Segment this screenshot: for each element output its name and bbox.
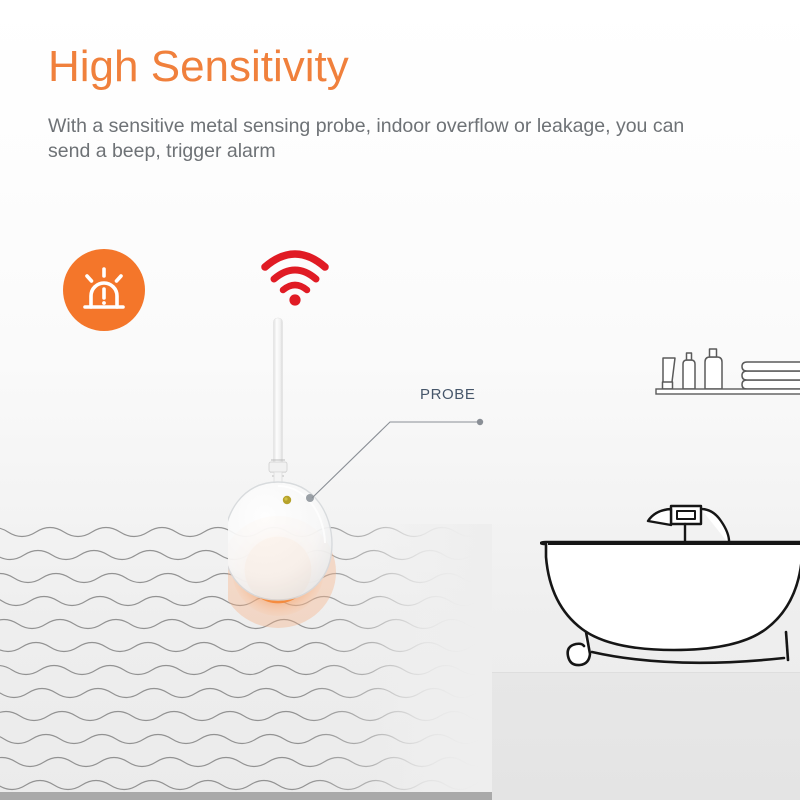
bottle-pump-1-cap — [687, 353, 692, 360]
infographic-canvas: PROBE High Sensitivity With a sensitive … — [0, 0, 800, 800]
page-subtitle: With a sensitive metal sensing probe, in… — [48, 114, 688, 164]
bathtub-body — [541, 542, 800, 650]
alarm-siren-icon — [63, 249, 145, 331]
wifi-signal-icon — [258, 245, 332, 307]
alarm-dot — [102, 301, 106, 305]
page-title: High Sensitivity — [48, 41, 349, 93]
bottle-pump-2-cap — [710, 349, 717, 357]
towel-2 — [742, 371, 800, 380]
antenna-rod — [274, 318, 283, 468]
bathroom-shelf — [650, 336, 800, 404]
bottle-tube-cap — [663, 382, 673, 389]
towel-3 — [742, 362, 800, 371]
water-floor-bar — [0, 792, 492, 800]
towel-1 — [742, 380, 800, 389]
bottle-pump-1 — [683, 360, 695, 389]
probe-label: PROBE — [420, 386, 476, 403]
clawfoot-bathtub — [540, 482, 800, 674]
bottle-pump-2 — [705, 357, 722, 389]
probe-callout: PROBE — [290, 380, 500, 510]
bathtub-faucet — [648, 506, 729, 544]
callout-leader-line — [312, 422, 480, 498]
callout-end-dot — [477, 419, 483, 425]
alarm-badge — [63, 249, 145, 331]
shelf-board — [656, 389, 800, 394]
room-floor — [492, 672, 800, 800]
